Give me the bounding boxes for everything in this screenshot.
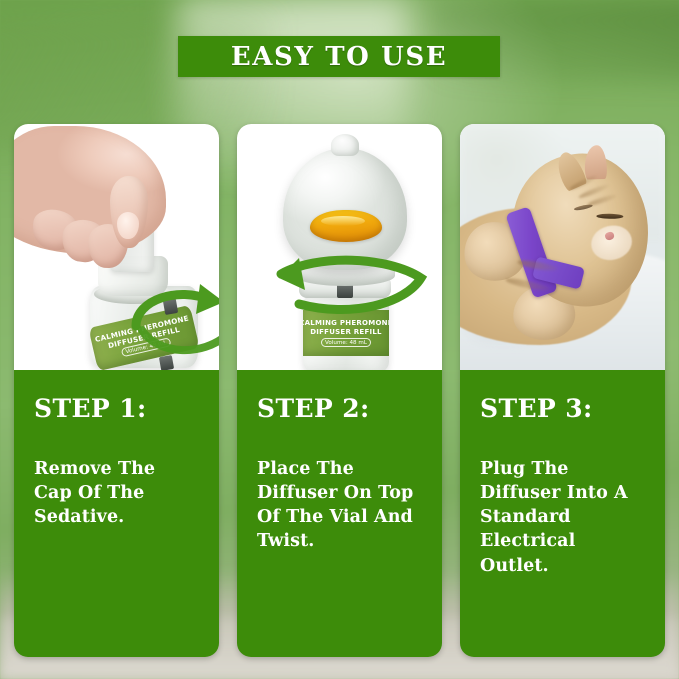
step-2-photo: CALMING PHEROMONE DIFFUSER REFILL Volume…	[237, 124, 442, 370]
step-1-photo: CALMING PHEROMONE DIFFUSER REFILL Volume…	[14, 124, 219, 370]
diffuser-orange-accent	[310, 210, 382, 242]
step-2-description: Place The Diffuser On Top Of The Vial An…	[257, 457, 422, 554]
diffuser-accent-highlight	[321, 216, 365, 226]
step-3-body: STEP 3: Plug The Diffuser Into A Standar…	[460, 370, 665, 657]
step-2-body: STEP 2: Place The Diffuser On Top Of The…	[237, 370, 442, 657]
sleeping-cat-photo	[460, 124, 665, 370]
step-1-title: STEP 1:	[34, 396, 199, 421]
steps-row: CALMING PHEROMONE DIFFUSER REFILL Volume…	[14, 124, 665, 657]
cat-closed-eye	[597, 213, 624, 218]
step-card-1: CALMING PHEROMONE DIFFUSER REFILL Volume…	[14, 124, 219, 657]
vial-label-volume: Volume: 48 mL	[321, 338, 371, 347]
step-1-description: Remove The Cap Of The Sedative.	[34, 457, 199, 529]
step-card-2: CALMING PHEROMONE DIFFUSER REFILL Volume…	[237, 124, 442, 657]
diffuser-on-vial-illustration: CALMING PHEROMONE DIFFUSER REFILL Volume…	[237, 124, 442, 370]
rotation-arrow-icon	[132, 274, 219, 364]
step-2-title: STEP 2:	[257, 396, 422, 421]
step-3-description: Plug The Diffuser Into A Standard Electr…	[480, 457, 645, 578]
step-card-3: STEP 3: Plug The Diffuser Into A Standar…	[460, 124, 665, 657]
step-1-body: STEP 1: Remove The Cap Of The Sedative.	[14, 370, 219, 657]
infographic-poster: EASY TO USE CALMING PHEROMONE DIFFUSER R…	[0, 0, 679, 679]
cat-closed-eye-far	[573, 203, 592, 211]
twist-arrow-icon	[255, 252, 435, 324]
cat-muzzle	[588, 221, 635, 263]
diffuser-nozzle	[331, 134, 359, 156]
step-3-photo	[460, 124, 665, 370]
page-title: EASY TO USE	[231, 42, 447, 72]
vial-label-line2: DIFFUSER REFILL	[310, 328, 382, 337]
step-3-title: STEP 3:	[480, 396, 645, 421]
title-banner: EASY TO USE	[178, 36, 500, 77]
hand-removing-cap-illustration: CALMING PHEROMONE DIFFUSER REFILL Volume…	[14, 124, 219, 370]
thumb-nail	[117, 212, 139, 239]
